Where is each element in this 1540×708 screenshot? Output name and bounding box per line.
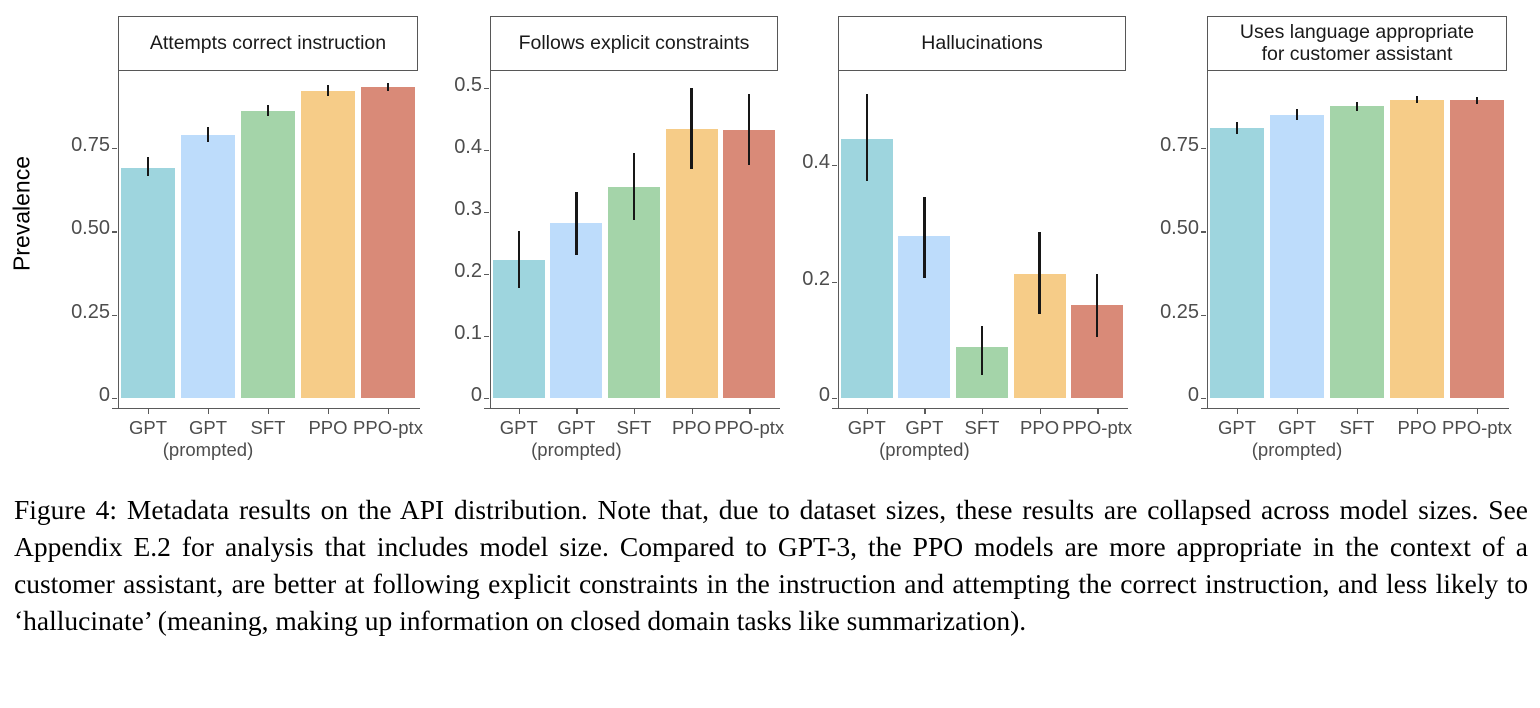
y-tick-mark bbox=[1201, 148, 1206, 149]
facet-title-4: Uses language appropriatefor customer as… bbox=[1207, 16, 1507, 71]
error-bar bbox=[1476, 97, 1478, 104]
bar-ppo bbox=[1390, 100, 1444, 398]
x-tick-mark bbox=[1477, 409, 1478, 414]
y-axis-line bbox=[1207, 71, 1208, 408]
bar-ppo-ptx bbox=[1450, 100, 1504, 398]
y-tick-label: 0.50 bbox=[1039, 217, 1199, 240]
y-tick-label: 0.75 bbox=[1039, 134, 1199, 157]
y-tick-mark bbox=[1201, 398, 1206, 399]
bar-sft bbox=[1330, 106, 1384, 398]
x-tick-mark bbox=[1417, 409, 1418, 414]
bar-gpt bbox=[1270, 115, 1324, 398]
figure-4-chart: Prevalence Attempts correct instruction0… bbox=[0, 0, 1540, 480]
x-tick-mark bbox=[1297, 409, 1298, 414]
error-bar bbox=[1356, 102, 1358, 111]
x-axis-line bbox=[1201, 408, 1509, 409]
facet-panel-4: Uses language appropriatefor customer as… bbox=[0, 0, 1540, 480]
bar-gpt bbox=[1210, 128, 1264, 398]
error-bar bbox=[1296, 109, 1298, 120]
x-tick-label-prompted-sub: (prompted) bbox=[1227, 439, 1367, 461]
error-bar bbox=[1236, 122, 1238, 134]
error-bar bbox=[1416, 96, 1418, 104]
facet-title-text: Uses language appropriatefor customer as… bbox=[1240, 22, 1474, 66]
y-tick-mark bbox=[1201, 231, 1206, 232]
y-tick-mark bbox=[1201, 315, 1206, 316]
x-tick-mark bbox=[1237, 409, 1238, 414]
y-tick-label: 0 bbox=[1039, 384, 1199, 407]
x-tick-mark bbox=[1357, 409, 1358, 414]
figure-caption: Figure 4: Metadata results on the API di… bbox=[14, 492, 1528, 640]
y-tick-label: 0.25 bbox=[1039, 301, 1199, 324]
x-tick-label-ppo-ptx: PPO-ptx bbox=[1417, 417, 1537, 439]
